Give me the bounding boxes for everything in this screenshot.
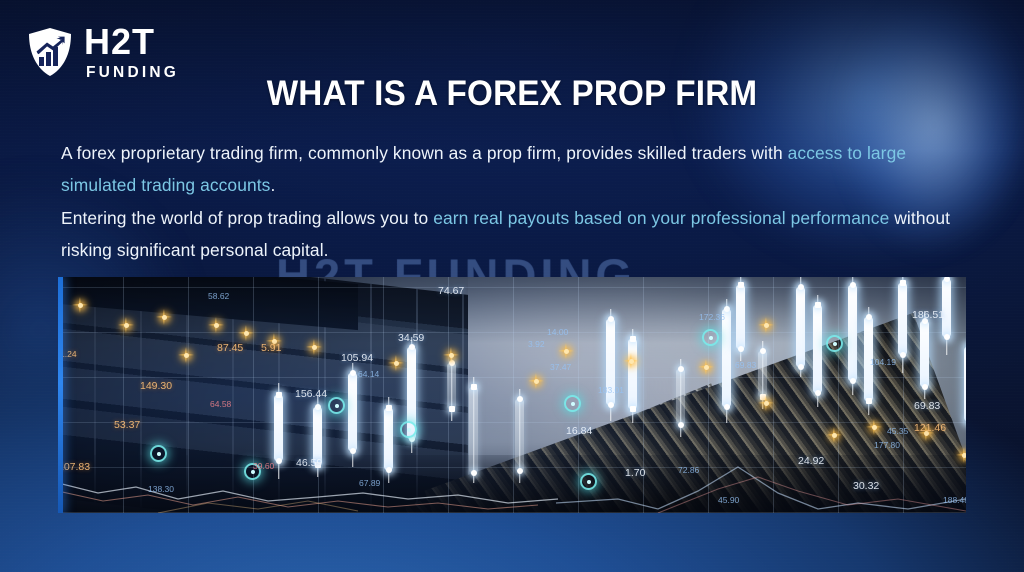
price-label: 74.67 [438, 285, 464, 297]
hero-line-series [58, 277, 966, 513]
price-label: 104.19 [870, 357, 896, 367]
candlestick-node [738, 282, 744, 288]
candlestick-node [471, 470, 477, 476]
candlestick-node [608, 316, 614, 322]
gold-spark-icon [528, 373, 544, 389]
candlestick-node [900, 280, 906, 286]
paragraph-2-highlight: earn real payouts based on your professi… [433, 208, 889, 228]
price-label: 156.44 [295, 388, 327, 400]
cyan-node-marker [400, 421, 417, 438]
gold-spark-icon [758, 317, 774, 333]
candlestick [898, 277, 907, 513]
price-label: 58.62 [208, 291, 229, 301]
cyan-node-marker [702, 329, 719, 346]
candlestick-node [798, 284, 804, 290]
gold-spark-icon [866, 419, 882, 435]
candlestick-node [678, 422, 684, 428]
candlestick-node [760, 348, 766, 354]
candlestick [964, 277, 966, 513]
price-label: 37.47 [550, 362, 571, 372]
candlestick-node [608, 402, 614, 408]
body-copy: A forex proprietary trading firm, common… [61, 138, 973, 266]
gold-spark-icon [388, 355, 404, 371]
price-label: 64.58 [210, 399, 231, 409]
price-label: 3.92 [528, 339, 545, 349]
candlestick-node [738, 346, 744, 352]
candlestick-node [944, 277, 950, 282]
candlestick-node [630, 336, 636, 342]
candlestick [864, 277, 873, 513]
candlestick-node [350, 370, 356, 376]
candlestick-node [386, 467, 392, 473]
gold-spark-icon [558, 343, 574, 359]
price-label: 149.30 [140, 380, 172, 392]
candlestick-node [449, 406, 455, 412]
price-label: 45.35 [887, 426, 908, 436]
candlestick-node [517, 468, 523, 474]
price-label: 72.86 [678, 465, 699, 475]
candlestick-node [350, 448, 356, 454]
price-label: 177.80 [874, 440, 900, 450]
price-label: 87.45 [217, 342, 243, 354]
gold-spark-icon [698, 359, 714, 375]
candlestick [736, 277, 745, 513]
cyan-node-marker [150, 445, 167, 462]
candlestick-node [678, 366, 684, 372]
candlestick-node [866, 398, 872, 404]
paragraph-1: A forex proprietary trading firm, common… [61, 138, 973, 201]
gold-spark-icon [623, 353, 639, 369]
gold-spark-icon [956, 447, 966, 463]
candlestick [469, 277, 478, 513]
candlestick-node [922, 384, 928, 390]
candlestick-node [630, 406, 636, 412]
candlestick [407, 277, 416, 513]
price-label: 1.70 [625, 467, 645, 479]
price-label: 69.83 [914, 400, 940, 412]
hero-image: 1.24149.3064.5853.37107.8339.60138.3087.… [58, 277, 966, 513]
paragraph-1-text-a: A forex proprietary trading firm, common… [61, 143, 788, 163]
paragraph-1-text-b: . [270, 175, 275, 195]
candlestick [447, 277, 456, 513]
gold-spark-icon [156, 309, 172, 325]
candlestick-node [900, 352, 906, 358]
gold-spark-icon [72, 297, 88, 313]
price-label: 183.01 [598, 385, 624, 395]
candlestick [676, 277, 685, 513]
shield-growth-chart-icon [28, 27, 72, 77]
candlestick-node [815, 302, 821, 308]
candlestick-node [944, 334, 950, 340]
price-label: 30.32 [853, 480, 879, 492]
gold-spark-icon [306, 339, 322, 355]
price-label: 172.36 [699, 312, 725, 322]
candlestick [348, 277, 357, 513]
hero-left-edge-highlight [58, 277, 63, 513]
price-label: 16.84 [566, 425, 592, 437]
gold-spark-icon [178, 347, 194, 363]
price-label: 5.91 [261, 342, 281, 354]
price-label: 14.00 [547, 327, 568, 337]
cyan-node-marker [564, 395, 581, 412]
candlestick-node [276, 458, 282, 464]
gold-spark-icon [443, 347, 459, 363]
price-label: 105.94 [341, 352, 373, 364]
candlestick-node [966, 418, 967, 424]
candlestick [384, 277, 393, 513]
candlestick-node [850, 282, 856, 288]
cyan-node-marker [580, 473, 597, 490]
candlestick [515, 277, 524, 513]
candlestick-node [966, 344, 967, 350]
cyan-node-marker [826, 335, 843, 352]
candlestick-node [409, 344, 415, 350]
candlestick-node [276, 392, 282, 398]
brand-name-primary: H2T [84, 24, 179, 60]
candlestick-node [315, 404, 321, 410]
gold-spark-icon [238, 325, 254, 341]
candlestick [848, 277, 857, 513]
paragraph-2-text-a: Entering the world of prop trading allow… [61, 208, 433, 228]
price-label: 138.30 [148, 484, 174, 494]
brand-logo[interactable]: H2T FUNDING [28, 24, 179, 81]
candlestick-node [517, 396, 523, 402]
candlestick-node [866, 314, 872, 320]
gold-spark-icon [118, 317, 134, 333]
price-label: 24.92 [798, 455, 824, 467]
candlestick-node [815, 390, 821, 396]
gold-spark-icon [208, 317, 224, 333]
price-label: 39.60 [253, 461, 274, 471]
candlestick [606, 277, 615, 513]
gold-spark-icon [758, 395, 774, 411]
brand-wordmark: H2T FUNDING [84, 24, 179, 81]
page-title: WHAT IS A FOREX PROP FIRM [26, 74, 999, 114]
price-label: 46.59 [296, 457, 322, 469]
candlestick-node [471, 384, 477, 390]
gold-spark-icon [826, 427, 842, 443]
price-label: 45.90 [718, 495, 739, 505]
price-label: 67.89 [359, 478, 380, 488]
candlestick-node [798, 364, 804, 370]
price-label: 186.51 [912, 309, 944, 321]
price-label: 121.46 [914, 422, 946, 434]
price-label: 69.83 [735, 360, 756, 370]
candlestick [796, 277, 805, 513]
price-label: 53.37 [114, 419, 140, 431]
price-label: 34.59 [398, 332, 424, 344]
candlestick-node [724, 404, 730, 410]
candlestick-node [850, 378, 856, 384]
cyan-node-marker [328, 397, 345, 414]
candlestick-node [386, 405, 392, 411]
price-label: 64.14 [358, 369, 379, 379]
price-label: 188.48 [943, 495, 966, 505]
